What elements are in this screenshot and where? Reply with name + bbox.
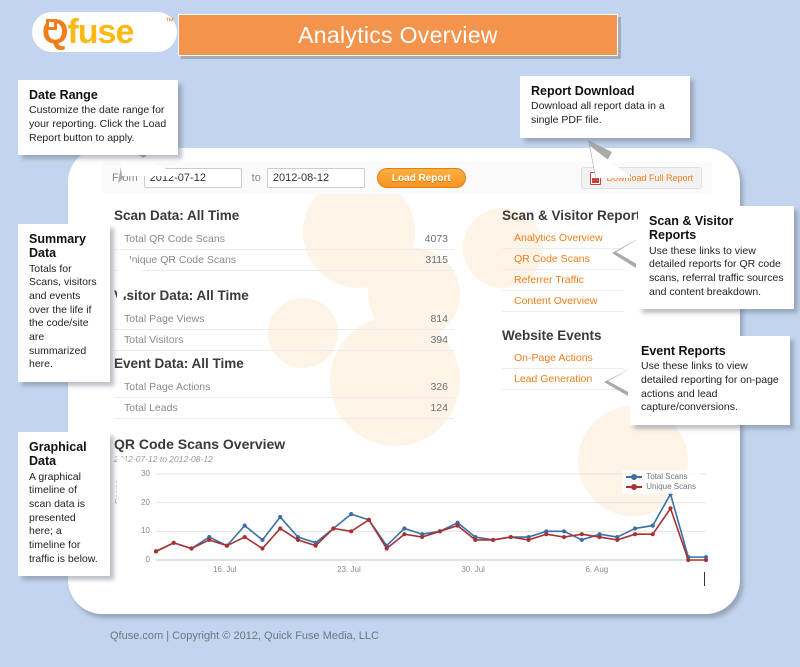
analytics-overview-screenshot: Q fuse ™ Analytics Overview From to Load…: [0, 0, 800, 667]
callout-body: A graphical timeline of scan data is pre…: [29, 471, 100, 566]
callout-body: Use these links to view detailed reports…: [649, 245, 784, 300]
callout-title: Event Reports: [641, 344, 780, 358]
callout-title: Scan & Visitor Reports: [649, 214, 784, 243]
callout-body: Customize the date range for your report…: [29, 104, 168, 145]
callout-event-reports: Event Reports Use these links to view de…: [630, 336, 790, 425]
callout-report-download: Report Download Download all report data…: [520, 76, 690, 138]
callout-graphical-data: Graphical Data A graphical timeline of s…: [18, 432, 110, 576]
callout-title: Date Range: [29, 88, 168, 102]
callout-title: Report Download: [531, 84, 680, 98]
callout-scan-visitor-reports: Scan & Visitor Reports Use these links t…: [638, 206, 794, 309]
callout-body: Download all report data in a single PDF…: [531, 100, 680, 127]
callout-body: Use these links to view detailed reporti…: [641, 360, 780, 415]
callout-summary-data: Summary Data Totals for Scans, visitors …: [18, 224, 110, 382]
callout-title: Summary Data: [29, 232, 100, 261]
callout-body: Totals for Scans, visitors and events ov…: [29, 263, 100, 372]
callout-date-range: Date Range Customize the date range for …: [18, 80, 178, 155]
callout-title: Graphical Data: [29, 440, 100, 469]
